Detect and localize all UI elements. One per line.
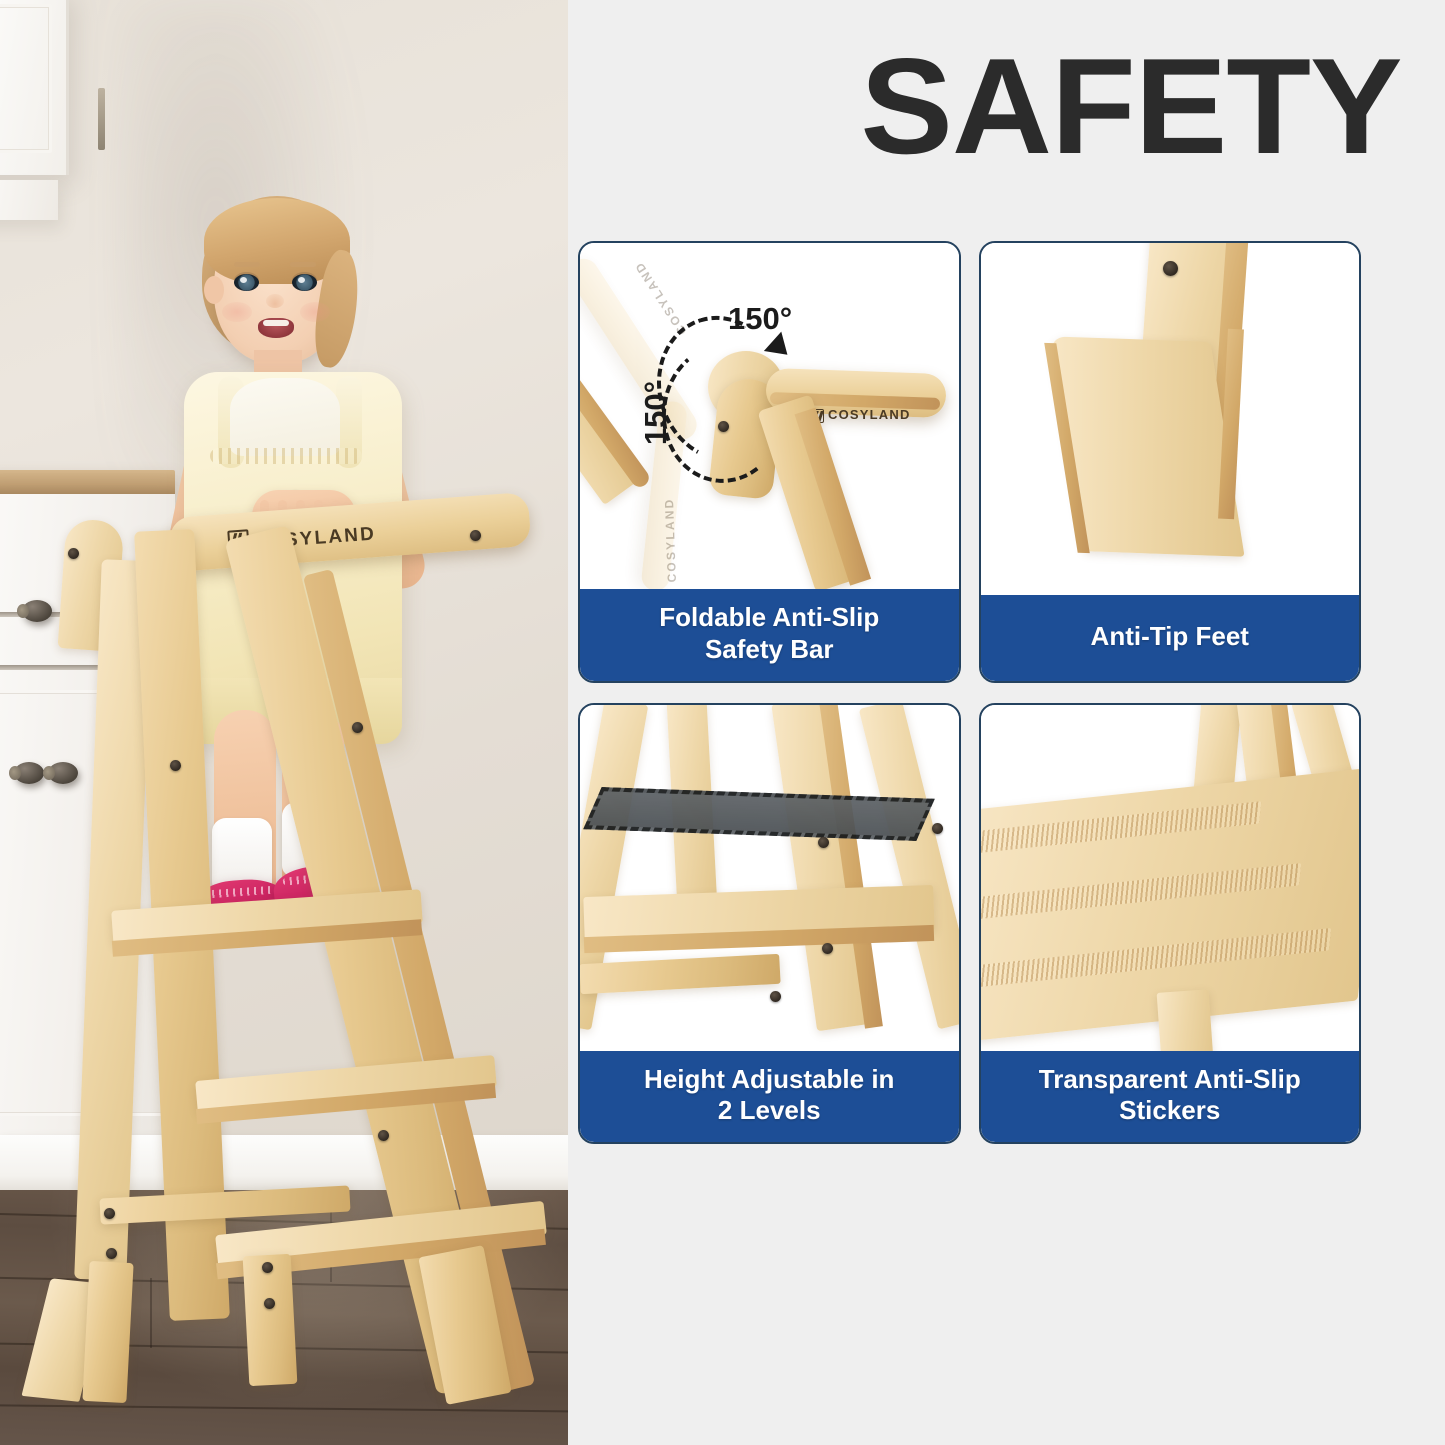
eye	[292, 274, 317, 291]
feature-panel-foldable-safety-bar[interactable]: COSYLAND COSYLAND COSYLAND	[578, 241, 961, 683]
feature-caption-anti-slip-stickers: Transparent Anti-Slip Stickers	[981, 1051, 1360, 1142]
angle-label-top: 150°	[728, 301, 792, 337]
nose	[266, 294, 284, 308]
foldable-safety-bar-illustration: COSYLAND COSYLAND COSYLAND	[580, 243, 959, 589]
ghost-bar-brand-label-2: COSYLAND	[662, 497, 679, 582]
screw	[932, 823, 943, 834]
caption-line-2: 2 Levels	[588, 1095, 951, 1127]
feature-panel-grid: COSYLAND COSYLAND COSYLAND	[578, 241, 1361, 1144]
screw	[1163, 261, 1178, 276]
caption-line-2: Stickers	[989, 1095, 1352, 1127]
angle-label-left: 150°	[638, 381, 674, 445]
tower-leg-foot	[82, 1261, 133, 1403]
lower-frame	[1156, 989, 1213, 1051]
upper-cabinet-lower-rail	[0, 180, 58, 220]
screw	[262, 1262, 273, 1273]
caption-line-1: Transparent Anti-Slip	[989, 1064, 1352, 1096]
page-title: SAFETY	[860, 38, 1401, 174]
height-adjustable-illustration	[580, 705, 959, 1051]
feature-panel-anti-tip-feet[interactable]: Anti-Tip Feet	[979, 241, 1362, 683]
screw	[818, 837, 829, 848]
anti-slip-stickers-photo	[981, 705, 1360, 1051]
eye	[234, 274, 259, 291]
hero-lifestyle-photo: COSYLAND	[0, 0, 568, 1445]
feature-panel-anti-slip-stickers[interactable]: Transparent Anti-Slip Stickers	[979, 703, 1362, 1145]
tower-leg-foot	[243, 1254, 298, 1386]
anti-tip-feet-photo	[981, 243, 1360, 595]
screw	[104, 1208, 115, 1219]
cheek	[300, 302, 330, 322]
screw	[352, 722, 363, 733]
screw	[770, 991, 781, 1002]
caption-line-2: Safety Bar	[588, 634, 951, 666]
feature-caption-foldable-safety-bar: Foldable Anti-Slip Safety Bar	[580, 589, 959, 680]
eyebrow	[290, 262, 316, 267]
eyebrow	[234, 262, 260, 267]
feature-caption-anti-tip-feet: Anti-Tip Feet	[981, 595, 1360, 681]
feature-caption-height-adjustable: Height Adjustable in 2 Levels	[580, 1051, 959, 1142]
screw	[264, 1298, 275, 1309]
upper-cabinet	[0, 0, 69, 175]
caption-line-1: Height Adjustable in	[588, 1064, 951, 1096]
cabinet-hinge	[98, 88, 105, 150]
mouth	[258, 318, 294, 338]
cheek	[222, 302, 252, 322]
screw	[170, 760, 181, 771]
product-infographic: COSYLAND SAFETY	[0, 0, 1445, 1445]
dress-gathering	[210, 448, 362, 464]
screw	[106, 1248, 117, 1259]
screw	[68, 548, 79, 559]
cabinet-knob	[14, 762, 44, 784]
screw	[470, 530, 481, 541]
feature-panel-height-adjustable[interactable]: Height Adjustable in 2 Levels	[578, 703, 961, 1145]
lower-step	[580, 953, 781, 993]
screw	[822, 943, 833, 954]
ghost-bar-brand-label: COSYLAND	[631, 259, 689, 338]
panel-bar-brand-label: COSYLAND	[828, 407, 911, 422]
cabinet-knob	[22, 600, 52, 622]
cabinet-knob	[48, 762, 78, 784]
countertop	[0, 470, 175, 496]
screw	[378, 1130, 389, 1141]
caption-line-1: Foldable Anti-Slip	[588, 602, 951, 634]
ear	[204, 276, 224, 304]
caption-line-1: Anti-Tip Feet	[989, 621, 1352, 653]
dress-bib	[230, 378, 340, 456]
